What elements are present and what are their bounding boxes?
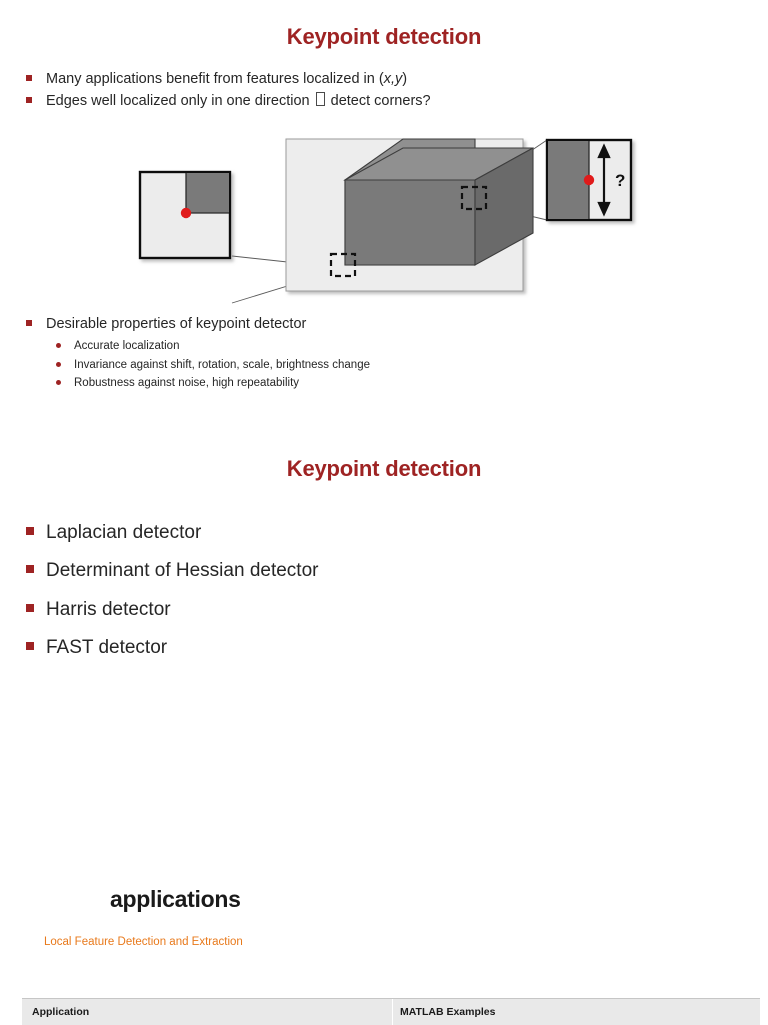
- slide-applications: applications Local Feature Detection and…: [0, 850, 768, 1024]
- list-item: Harris detector: [0, 591, 768, 629]
- local-feature-detection-link[interactable]: Local Feature Detection and Extraction: [44, 936, 243, 948]
- applications-table-header: Application MATLAB Examples: [22, 998, 760, 1025]
- coordinate-notation: x,y: [384, 71, 403, 87]
- list-item: Robustness against noise, high repeatabi…: [46, 374, 560, 393]
- missing-glyph-box-icon: [316, 92, 325, 106]
- properties-bullet-list: Desirable properties of keypoint detecto…: [0, 313, 560, 393]
- question-mark-label: ?: [615, 171, 625, 190]
- list-item: Invariance against shift, rotation, scal…: [46, 356, 560, 375]
- column-divider: [392, 999, 393, 1025]
- bullet-text-part: ): [402, 71, 407, 87]
- properties-sub-list: Accurate localization Invariance against…: [46, 337, 560, 393]
- table-header-matlab-examples: MATLAB Examples: [400, 1006, 496, 1018]
- list-item: Determinant of Hessian detector: [0, 552, 768, 590]
- applications-heading: applications: [110, 886, 241, 913]
- detector-list: Laplacian detector Determinant of Hessia…: [0, 514, 768, 668]
- page-title: Keypoint detection: [0, 24, 768, 50]
- slide-keypoint-detection-intro: Keypoint detection Many applications ben…: [0, 0, 768, 430]
- list-item: Accurate localization: [46, 337, 560, 356]
- bullet-text-part: Edges well localized only in one directi…: [46, 93, 314, 109]
- intro-bullet-list: Many applications benefit from features …: [0, 68, 768, 112]
- list-item: Desirable properties of keypoint detecto…: [0, 313, 560, 393]
- slide-keypoint-detection-list: Keypoint detection Laplacian detector De…: [0, 430, 768, 850]
- keypoint-dot: [584, 175, 594, 185]
- cube-faces: [345, 148, 533, 265]
- page-title: Keypoint detection: [0, 456, 768, 482]
- list-item: Laplacian detector: [0, 514, 768, 552]
- list-item: Many applications benefit from features …: [0, 68, 768, 90]
- bullet-text-part: Many applications benefit from features …: [46, 71, 384, 87]
- bullet-text-part: detect corners?: [327, 93, 431, 109]
- list-item: Edges well localized only in one directi…: [0, 90, 768, 112]
- table-header-application: Application: [32, 1006, 89, 1018]
- keypoint-illustration-figure: ?: [0, 130, 768, 305]
- corner-patch-content: [181, 173, 229, 218]
- list-item-label: Desirable properties of keypoint detecto…: [46, 316, 306, 332]
- keypoint-dot: [181, 208, 191, 218]
- list-item: FAST detector: [0, 629, 768, 667]
